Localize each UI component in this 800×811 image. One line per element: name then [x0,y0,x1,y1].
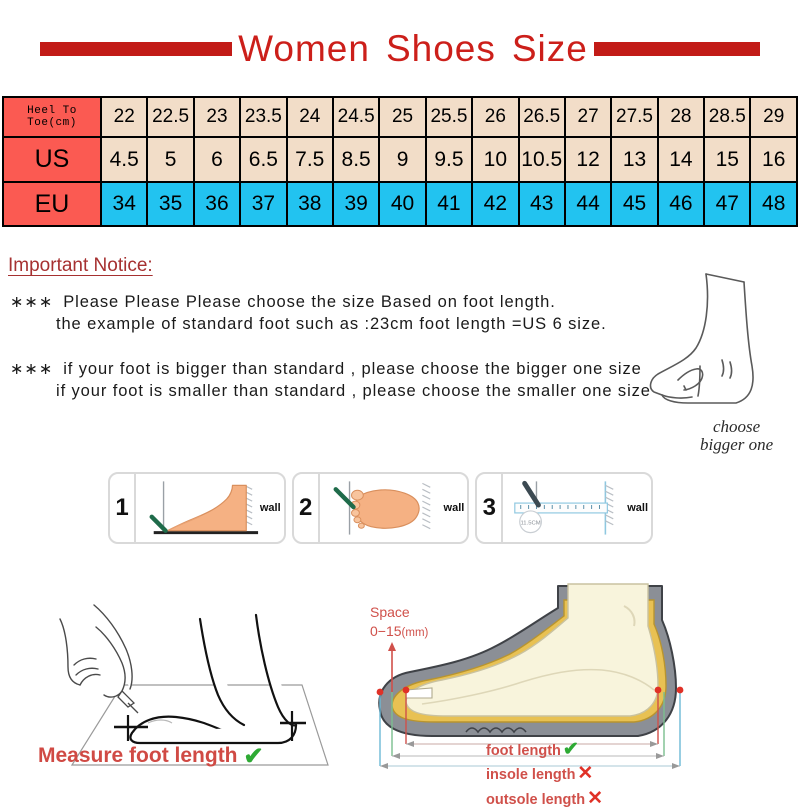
step-number-2: 2 [294,474,320,542]
legend-insole-length: insole length✕ [486,762,603,786]
cell-heel-1: 22.5 [147,97,193,137]
cell-us-0: 4.5 [101,137,147,182]
measure-caption-text: Measure foot length [38,744,238,767]
cell-eu-5: 39 [333,182,379,226]
legend-insole-length-x-icon: ✕ [577,763,593,784]
step-3-illustration: 11.5CM wall [503,474,651,542]
notice-bullet-1: ∗∗∗ [10,294,53,311]
page-title-word-3: Size [512,28,588,69]
notice-line-2: the example of standard foot such as :23… [10,315,690,334]
cell-us-10: 12 [565,137,611,182]
cell-heel-13: 28.5 [704,97,750,137]
space-measurement-label: Space 0−15(mm) [370,603,428,641]
cell-us-4: 7.5 [287,137,333,182]
notice-line-3-text: if your foot is bigger than standard , p… [63,360,641,378]
measure-foot-length-caption: Measure foot length✔ [38,742,264,771]
cell-eu-4: 38 [287,182,333,226]
notice-line-4-text: if your foot is smaller than standard , … [56,382,651,400]
foot-caption-line-1: choose [700,418,773,436]
cell-eu-13: 47 [704,182,750,226]
step-3-measurement: 11.5CM [521,521,541,527]
cell-us-14: 16 [750,137,797,182]
size-chart-table: Heel To Toe(cm) 22 22.5 23 23.5 24 24.5 … [2,96,798,227]
title-accent-bar-right [594,42,760,56]
notice-line-2-text: the example of standard foot such as :23… [56,315,607,333]
cell-heel-8: 26 [472,97,518,137]
step-number-3: 3 [477,474,503,542]
cell-heel-10: 27 [565,97,611,137]
important-notice-body: ∗∗∗Please Please Please choose the size … [10,292,690,404]
cell-heel-6: 25 [379,97,425,137]
notice-bullet-2: ∗∗∗ [10,361,53,378]
cell-eu-11: 45 [611,182,657,226]
row-label-us: US [3,137,101,182]
table-row-us: US 4.5 5 6 6.5 7.5 8.5 9 9.5 10 10.5 12 … [3,137,797,182]
legend-foot-length-check-icon: ✔ [563,739,579,760]
cell-eu-10: 44 [565,182,611,226]
space-label-unit: (mm) [402,627,429,639]
row-label-eu: EU [3,182,101,226]
step-number-1: 1 [110,474,136,542]
cell-us-7: 9.5 [426,137,472,182]
cell-heel-0: 22 [101,97,147,137]
cell-us-8: 10 [472,137,518,182]
page-title-word-1: Women [238,28,370,69]
cell-eu-14: 48 [750,182,797,226]
cell-eu-9: 43 [519,182,565,226]
cell-heel-9: 26.5 [519,97,565,137]
important-notice-heading: Important Notice: [8,255,153,277]
legend-foot-length-text: foot length [486,743,561,759]
cell-eu-2: 36 [194,182,240,226]
table-row-eu: EU 34 35 36 37 38 39 40 41 42 43 44 45 4… [3,182,797,226]
foot-caption-line-2: bigger one [700,436,773,454]
space-label-line-2: 0−15 [370,623,402,639]
step-panel-3: 3 [475,472,653,544]
cell-us-9: 10.5 [519,137,565,182]
step-1-wall-label: wall [260,502,281,514]
legend-insole-length-text: insole length [486,767,575,783]
page-title-word-2: Shoes [386,28,496,69]
cell-heel-11: 27.5 [611,97,657,137]
cell-us-6: 9 [379,137,425,182]
cell-us-1: 5 [147,137,193,182]
cell-eu-3: 37 [240,182,286,226]
cell-heel-12: 28 [658,97,704,137]
cell-heel-4: 24 [287,97,333,137]
cell-eu-12: 46 [658,182,704,226]
cell-heel-2: 23 [194,97,240,137]
cell-heel-3: 23.5 [240,97,286,137]
table-row-heel-to-toe: Heel To Toe(cm) 22 22.5 23 23.5 24 24.5 … [3,97,797,137]
step-2-wall-label: wall [444,502,465,514]
notice-line-4: if your foot is smaller than standard , … [10,382,690,401]
page-title: WomenShoesSize [238,28,588,70]
step-1-illustration: wall [136,474,284,542]
notice-line-1-text: Please Please Please choose the size Bas… [63,293,556,311]
cell-us-5: 8.5 [333,137,379,182]
title-accent-bar-left [40,42,232,56]
legend-outsole-length-x-icon: ✕ [587,788,603,809]
notice-line-1: ∗∗∗Please Please Please choose the size … [10,292,690,312]
cell-eu-6: 40 [379,182,425,226]
step-panel-2: 2 wall [292,472,470,544]
cell-us-2: 6 [194,137,240,182]
cell-eu-7: 41 [426,182,472,226]
foot-sketch-caption: choose bigger one [700,418,773,455]
cell-us-13: 15 [704,137,750,182]
cell-eu-8: 42 [472,182,518,226]
cell-heel-5: 24.5 [333,97,379,137]
cell-heel-7: 25.5 [426,97,472,137]
measure-check-icon: ✔ [244,742,264,771]
legend-outsole-length: outsole length✕ [486,787,603,811]
notice-line-3: ∗∗∗if your foot is bigger than standard … [10,359,690,379]
cell-eu-0: 34 [101,182,147,226]
space-label-line-1: Space [370,604,410,620]
page-title-banner: WomenShoesSize [0,24,800,74]
step-panel-1: 1 wall [108,472,286,544]
step-2-illustration: wall [320,474,468,542]
cell-us-3: 6.5 [240,137,286,182]
row-label-heel-to-toe: Heel To Toe(cm) [3,97,101,137]
cell-us-11: 13 [611,137,657,182]
notice-spacer [10,337,690,359]
cell-heel-14: 29 [750,97,797,137]
cell-us-12: 14 [658,137,704,182]
measurement-steps: 1 wall 2 [108,472,653,544]
legend-foot-length: foot length✔ [486,738,603,762]
step-3-wall-label: wall [627,502,648,514]
cell-eu-1: 35 [147,182,193,226]
